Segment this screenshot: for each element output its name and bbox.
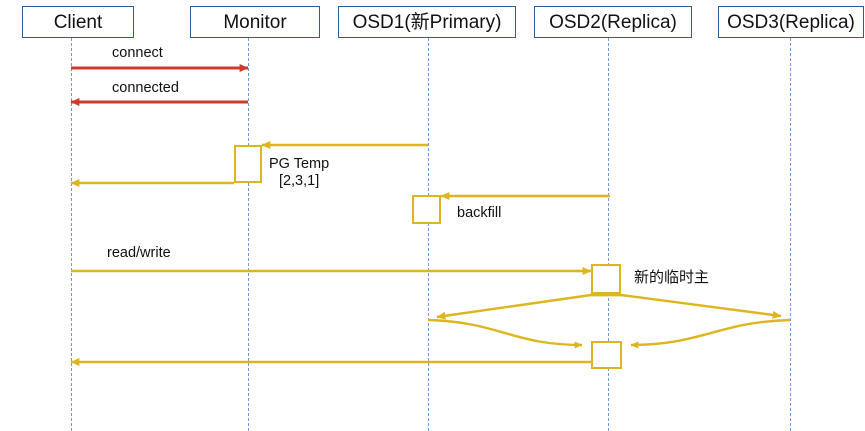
label-backfill: backfill — [457, 205, 501, 222]
sequence-diagram: Client Monitor OSD1(新Primary) OSD2(Repli… — [0, 0, 865, 431]
label-pg-temp: PG Temp [2,3,1] — [269, 156, 329, 189]
label-connect: connect — [112, 45, 163, 62]
activation-osd2-backfill — [412, 195, 441, 224]
label-connected: connected — [112, 80, 179, 97]
label-read-write: read/write — [107, 245, 171, 262]
arrow-newtemp-to-osd1 — [437, 295, 621, 317]
activation-osd2-reply — [591, 341, 622, 369]
activation-osd2-primary — [591, 264, 621, 294]
label-new-temp-primary: 新的临时主 — [634, 269, 709, 286]
arrow-newtemp-to-osd3 — [591, 295, 781, 316]
activation-monitor — [234, 145, 262, 183]
arrow-ack-from-osd1 — [428, 320, 582, 345]
arrow-ack-from-osd3 — [631, 320, 790, 345]
